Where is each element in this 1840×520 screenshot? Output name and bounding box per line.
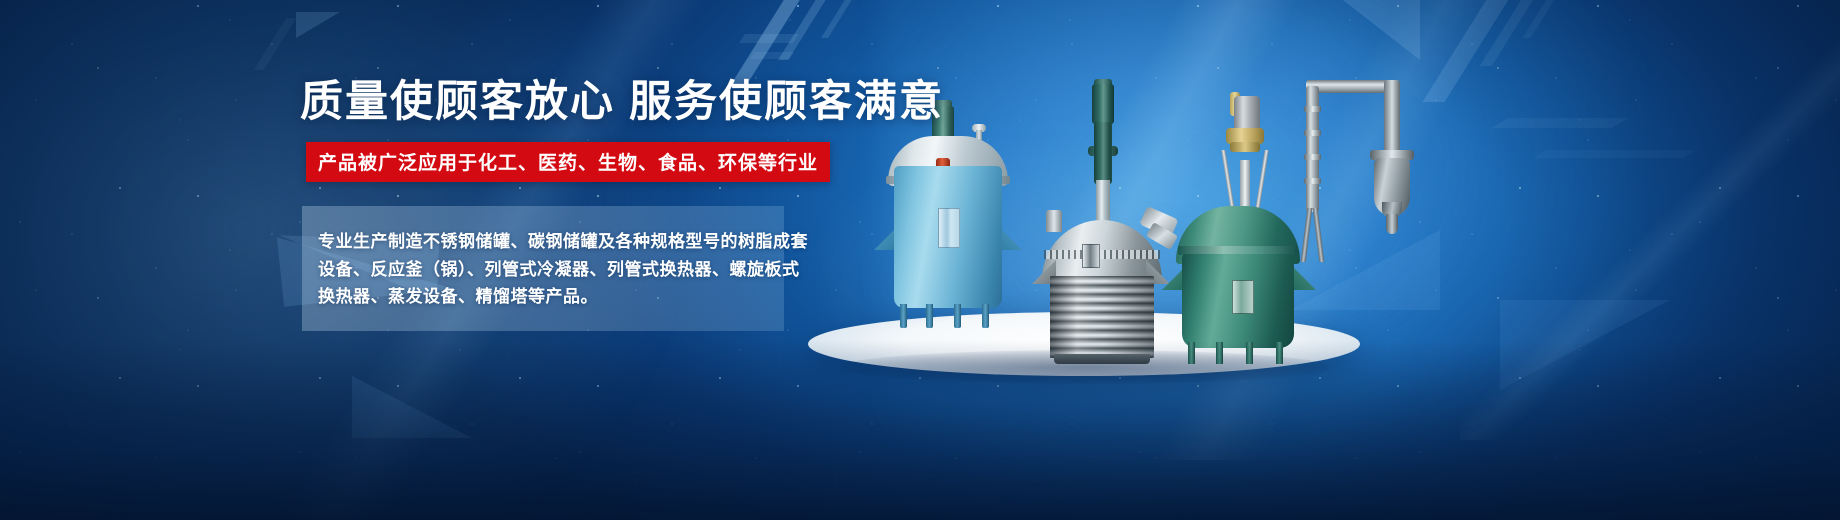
description-panel: 专业生产制造不锈钢储罐、碳钢储罐及各种规格型号的树脂成套 设备、反应釜（锅）、列…: [302, 206, 784, 331]
industry-ribbon-badge: 产品被广泛应用于化工、医药、生物、食品、环保等行业: [306, 142, 830, 182]
banner-headline: 质量使顾客放心 服务使顾客满意: [300, 78, 820, 126]
promo-banner: 质量使顾客放心 服务使顾客满意 产品被广泛应用于化工、医药、生物、食品、环保等行…: [0, 0, 1840, 520]
description-line: 换热器、蒸发设备、精馏塔等产品。: [318, 283, 766, 311]
description-line: 设备、反应釜（锅）、列管式冷凝器、列管式换热器、螺旋板式: [318, 256, 766, 284]
bottom-fade-overlay: [0, 340, 1840, 520]
banner-text-column: 质量使顾客放心 服务使顾客满意 产品被广泛应用于化工、医药、生物、食品、环保等行…: [300, 78, 820, 331]
description-line: 专业生产制造不锈钢储罐、碳钢储罐及各种规格型号的树脂成套: [318, 228, 766, 256]
